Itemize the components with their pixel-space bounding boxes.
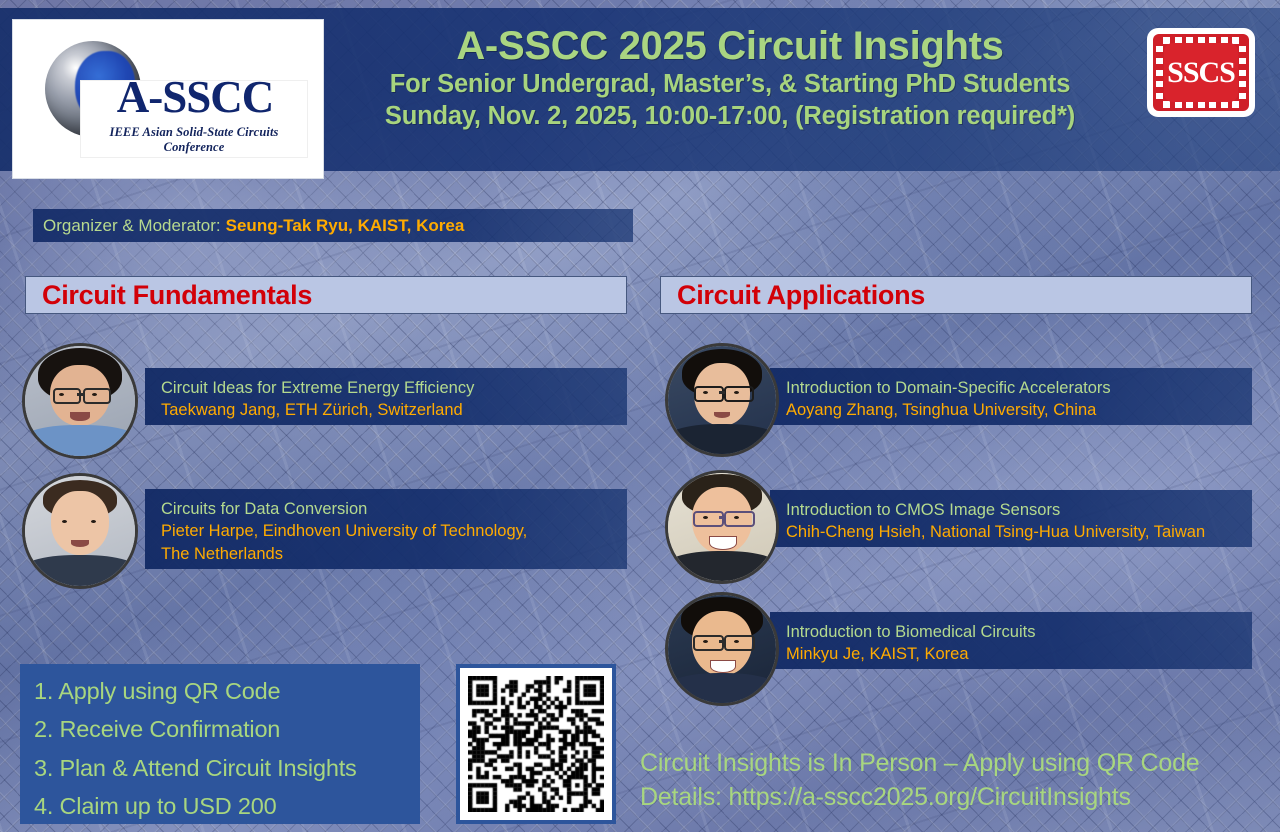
step-3: 3. Plan & Attend Circuit Insights — [34, 749, 420, 787]
talk-speaker-jang: Taekwang Jang, ETH Zürich, Switzerland — [161, 399, 613, 421]
talk-title-jang: Circuit Ideas for Extreme Energy Efficie… — [161, 377, 613, 399]
footer-line-details: Details: https://a-sscc2025.org/CircuitI… — [640, 780, 1260, 814]
sscs-label: SSCS — [1167, 56, 1235, 90]
poster-canvas: A-SSCC IEEE Asian Solid-State Circuits C… — [0, 0, 1280, 832]
avatar-minkyu-je — [665, 592, 779, 706]
talk-speaker-harpe: Pieter Harpe, Eindhoven University of Te… — [161, 520, 613, 542]
assc-logo: A-SSCC IEEE Asian Solid-State Circuits C… — [12, 19, 324, 179]
header-titles: A-SSCC 2025 Circuit Insights For Senior … — [330, 24, 1130, 133]
footer-line-inperson: Circuit Insights is In Person – Apply us… — [640, 746, 1260, 780]
avatar-taekwang-jang — [22, 343, 138, 459]
qr-code[interactable] — [456, 664, 616, 824]
talk-bar-je: Introduction to Biomedical Circuits Mink… — [770, 612, 1252, 669]
avatar-chih-cheng-hsieh — [665, 470, 779, 584]
talk-speaker-hsieh: Chih-Cheng Hsieh, National Tsing-Hua Uni… — [786, 521, 1238, 543]
assc-tagline: IEEE Asian Solid-State Circuits Conferen… — [81, 125, 307, 155]
talk-title-je: Introduction to Biomedical Circuits — [786, 621, 1238, 643]
organizer-label: Organizer & Moderator: — [43, 216, 221, 236]
talk-speaker-harpe-line2: The Netherlands — [161, 543, 613, 565]
step-4: 4. Claim up to USD 200 — [34, 787, 420, 825]
sscs-core: SSCS — [1164, 43, 1238, 102]
talk-bar-hsieh: Introduction to CMOS Image Sensors Chih-… — [770, 490, 1252, 547]
talk-speaker-zhang: Aoyang Zhang, Tsinghua University, China — [786, 399, 1238, 421]
organizer-name: Seung-Tak Ryu, KAIST, Korea — [226, 216, 465, 236]
sscs-logo: SSCS — [1149, 30, 1253, 115]
page-title: A-SSCC 2025 Circuit Insights — [330, 24, 1130, 69]
section-title-applications: Circuit Applications — [677, 280, 925, 311]
talk-title-harpe: Circuits for Data Conversion — [161, 498, 613, 520]
step-2: 2. Receive Confirmation — [34, 710, 420, 748]
avatar-pieter-harpe — [22, 473, 138, 589]
section-header-fundamentals: Circuit Fundamentals — [25, 276, 627, 314]
talk-bar-zhang: Introduction to Domain-Specific Accelera… — [770, 368, 1252, 425]
section-header-applications: Circuit Applications — [660, 276, 1252, 314]
header-subtitle-audience: For Senior Undergrad, Master’s, & Starti… — [330, 69, 1130, 101]
header-subtitle-date: Sunday, Nov. 2, 2025, 10:00-17:00, (Regi… — [330, 101, 1130, 133]
steps-panel: 1. Apply using QR Code 2. Receive Confir… — [20, 664, 420, 824]
talk-speaker-je: Minkyu Je, KAIST, Korea — [786, 643, 1238, 665]
section-title-fundamentals: Circuit Fundamentals — [42, 280, 312, 311]
avatar-aoyang-zhang — [665, 343, 779, 457]
header-band: A-SSCC IEEE Asian Solid-State Circuits C… — [0, 8, 1280, 171]
qr-code-canvas[interactable] — [468, 676, 604, 812]
talk-title-zhang: Introduction to Domain-Specific Accelera… — [786, 377, 1238, 399]
step-1: 1. Apply using QR Code — [34, 672, 420, 710]
talk-title-hsieh: Introduction to CMOS Image Sensors — [786, 499, 1238, 521]
talk-bar-jang: Circuit Ideas for Extreme Energy Efficie… — [145, 368, 627, 425]
footer-info: Circuit Insights is In Person – Apply us… — [640, 746, 1260, 814]
chip-pins-right — [1239, 46, 1246, 99]
chip-pins-left — [1156, 46, 1163, 99]
talk-bar-harpe: Circuits for Data Conversion Pieter Harp… — [145, 489, 627, 569]
assc-wordmark: A-SSCC — [87, 75, 303, 120]
organizer-bar: Organizer & Moderator: Seung-Tak Ryu, KA… — [33, 209, 633, 242]
chip-pins-bottom — [1163, 101, 1239, 108]
